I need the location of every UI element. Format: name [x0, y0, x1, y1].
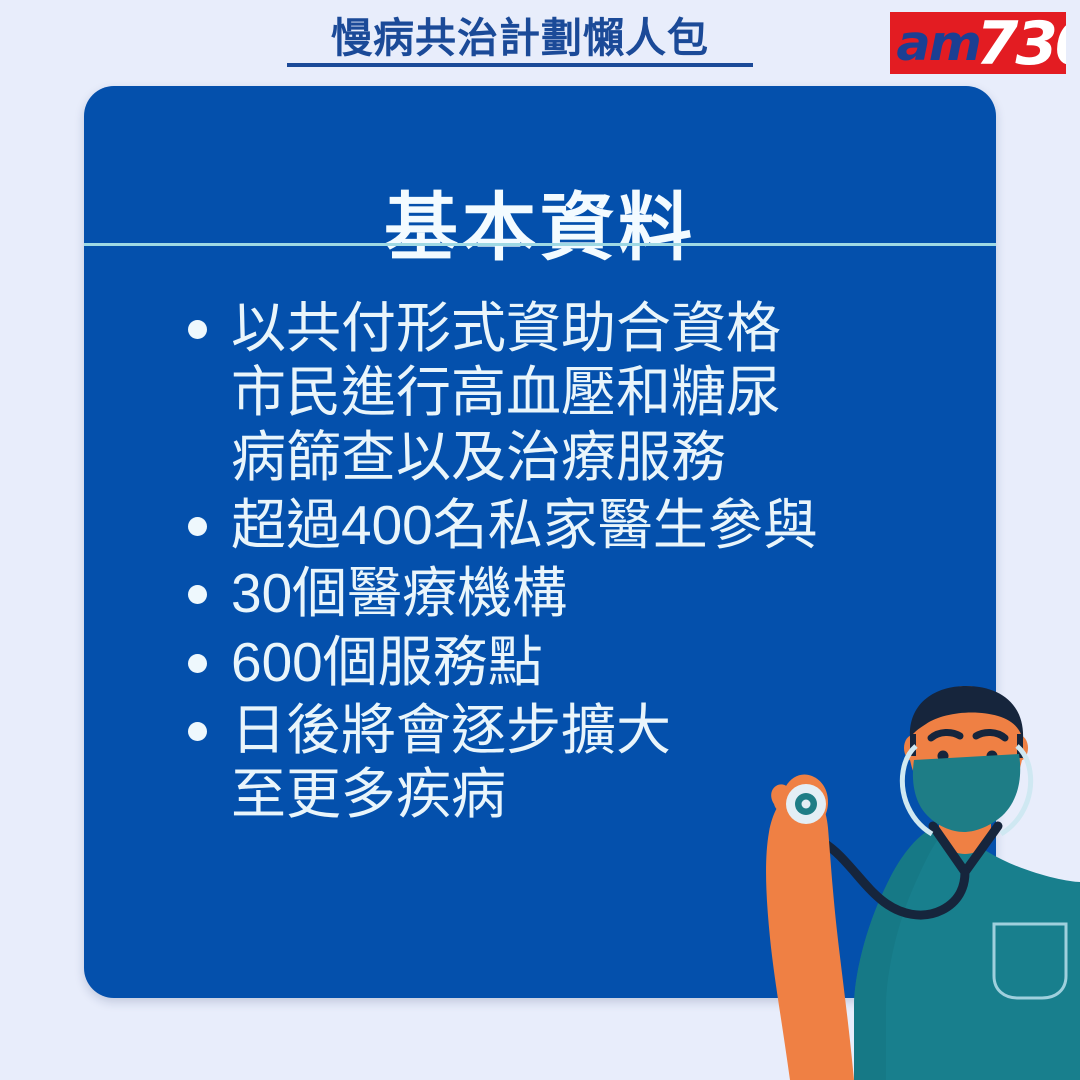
list-item: 30個醫療機構	[188, 561, 988, 625]
bullet-dot-icon	[188, 517, 207, 536]
am730-logo: am 730	[890, 12, 1066, 74]
bullet-dot-icon	[188, 722, 207, 741]
doctor-scrubs-pocket	[994, 924, 1066, 998]
doctor-sideburn-right	[1017, 734, 1023, 758]
info-card: 基本資料 以共付形式資助合資格 市民進行高血壓和糖尿 病篩查以及治療服務 超過4…	[84, 86, 996, 998]
top-bar: 慢病共治計劃懶人包 am 730	[0, 0, 1080, 86]
bullet-dot-icon	[188, 654, 207, 673]
doctor-mask-strap-right	[1001, 746, 1031, 834]
card-divider	[84, 243, 996, 246]
logo-am-text: am	[896, 24, 979, 64]
logo-730-text: 730	[976, 20, 1066, 68]
list-item-label: 600個服務點	[231, 630, 543, 694]
page-title: 慢病共治計劃懶人包	[0, 14, 1040, 62]
bullet-dot-icon	[188, 585, 207, 604]
bullet-list: 以共付形式資助合資格 市民進行高血壓和糖尿 病篩查以及治療服務 超過400名私家…	[188, 296, 988, 831]
list-item-label: 日後將會逐步擴大 至更多疾病	[231, 698, 671, 827]
list-item: 超過400名私家醫生參與	[188, 493, 988, 557]
bullet-dot-icon	[188, 320, 207, 339]
list-item: 600個服務點	[188, 630, 988, 694]
doctor-ear-right	[1010, 735, 1028, 761]
list-item: 日後將會逐步擴大 至更多疾病	[188, 698, 988, 827]
page-title-underline	[287, 63, 753, 67]
list-item: 以共付形式資助合資格 市民進行高血壓和糖尿 病篩查以及治療服務	[188, 296, 988, 489]
list-item-label: 超過400名私家醫生參與	[231, 493, 818, 557]
card-heading: 基本資料	[84, 191, 996, 265]
list-item-label: 30個醫療機構	[231, 561, 567, 625]
list-item-label: 以共付形式資助合資格 市民進行高血壓和糖尿 病篩查以及治療服務	[231, 296, 781, 489]
